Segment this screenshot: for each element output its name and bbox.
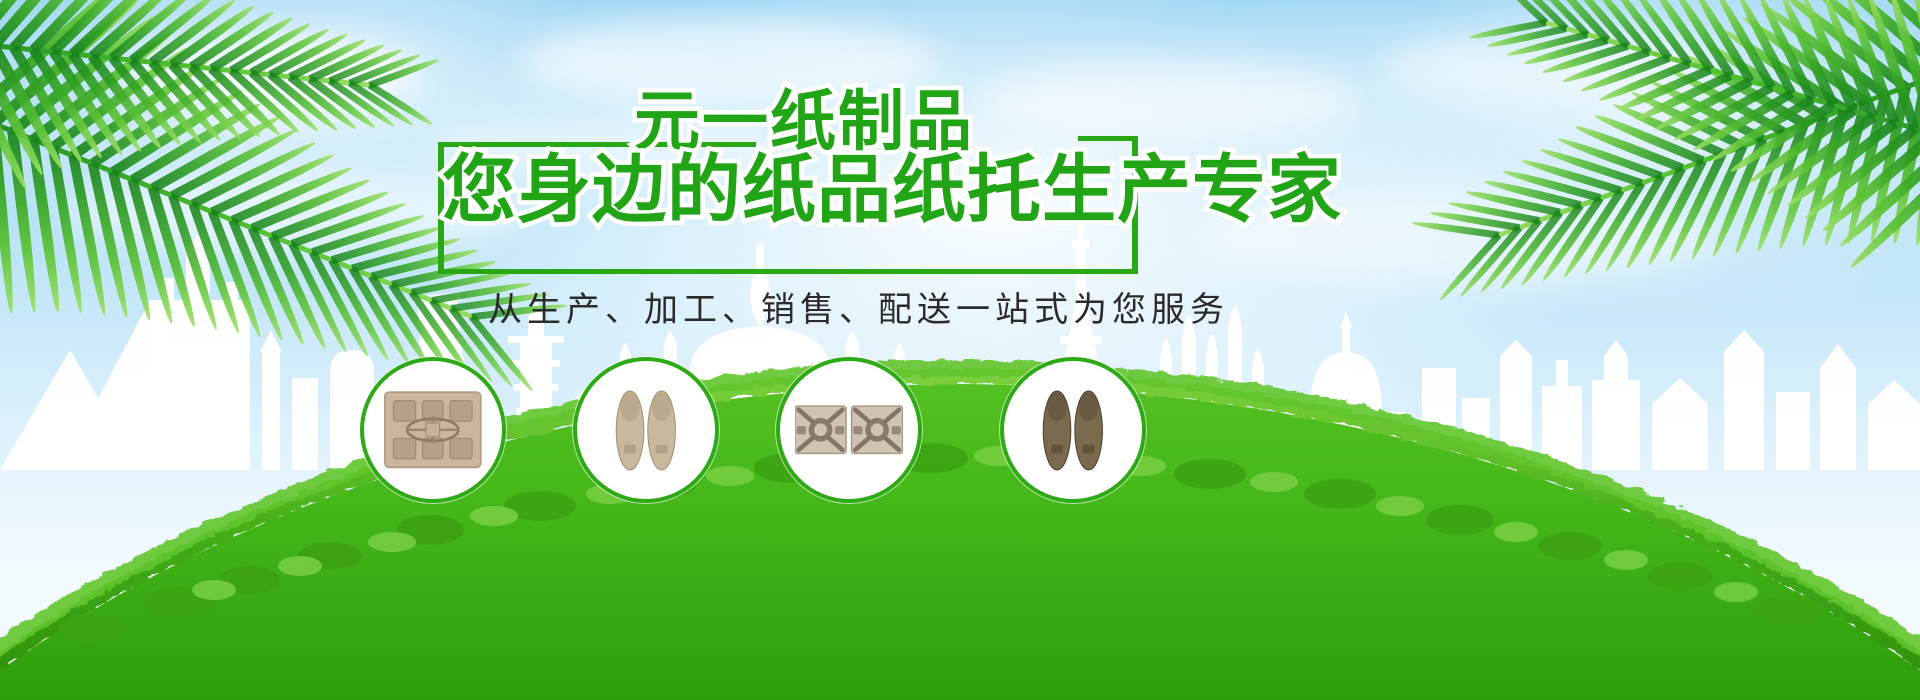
promo-banner: 元一纸制品 您身边的纸品纸托生产专家 从生产、加工、销售、配送一站式为您服务	[0, 0, 1920, 700]
headline-subtitle: 从生产、加工、销售、配送一站式为您服务	[488, 282, 1108, 331]
headline-line-1: 元一纸制品	[634, 84, 974, 158]
product-image-pulp-shoe-inserts-light	[592, 387, 700, 473]
product-circle-pulp-corner-protectors[interactable]	[776, 357, 922, 503]
frame-top-right-edge	[1078, 136, 1138, 141]
product-circle-square-pulp-tray[interactable]	[360, 357, 506, 503]
product-image-pulp-corner-protectors	[795, 387, 903, 473]
green-hill-with-hedge	[0, 280, 1920, 700]
product-circle-pulp-shoe-inserts-light[interactable]	[573, 357, 719, 503]
headline-block: 元一纸制品 您身边的纸品纸托生产专家	[438, 92, 1144, 274]
frame-bottom-edge	[438, 269, 1138, 274]
product-image-pulp-shoe-inserts-dark	[1019, 387, 1127, 473]
product-circle-pulp-shoe-inserts-dark[interactable]	[1000, 357, 1146, 503]
headline-line-2: 您身边的纸品纸托生产专家	[442, 148, 1342, 232]
product-image-square-pulp-tray	[379, 387, 487, 473]
